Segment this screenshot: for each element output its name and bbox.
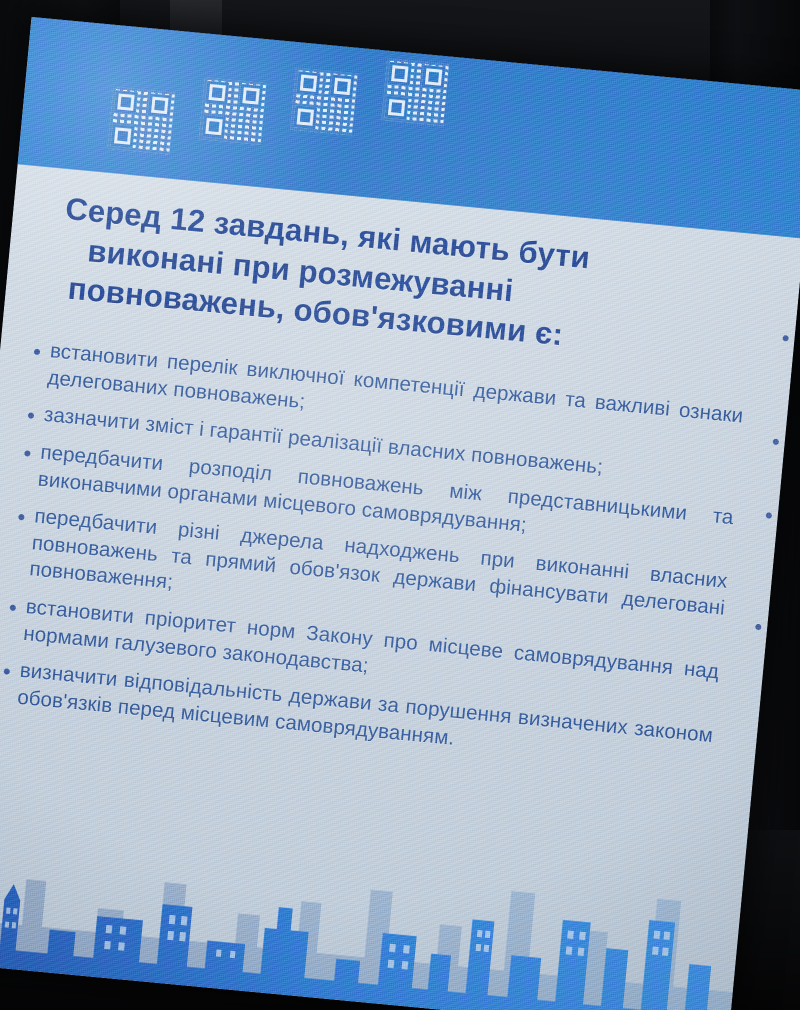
qr-code-4: [381, 59, 449, 127]
bullet-list: встановити перелік виключної компетенції…: [0, 337, 744, 788]
edge-dot-icon: [755, 624, 762, 631]
edge-dot-icon: [766, 512, 773, 519]
qr-code-3: [290, 68, 358, 136]
bullet-dot-icon: [10, 605, 17, 612]
led-screen: Серед 12 завдань, які мають бути виконан…: [0, 17, 800, 1010]
bullet-dot-icon: [34, 349, 41, 356]
bullet-dot-icon: [28, 413, 35, 420]
photo-of-projection-screen: Серед 12 завдань, які мають бути виконан…: [0, 0, 800, 1010]
city-skyline-graphic: [0, 798, 744, 1010]
edge-dot-icon: [782, 335, 789, 342]
presentation-slide: Серед 12 завдань, які мають бути виконан…: [0, 17, 800, 1010]
bullet-dot-icon: [24, 450, 31, 457]
bullet-dot-icon: [3, 669, 10, 676]
qr-code-1: [107, 87, 175, 155]
bullet-dot-icon: [18, 514, 25, 521]
edge-dot-icon: [773, 439, 780, 446]
qr-code-2: [199, 77, 267, 145]
